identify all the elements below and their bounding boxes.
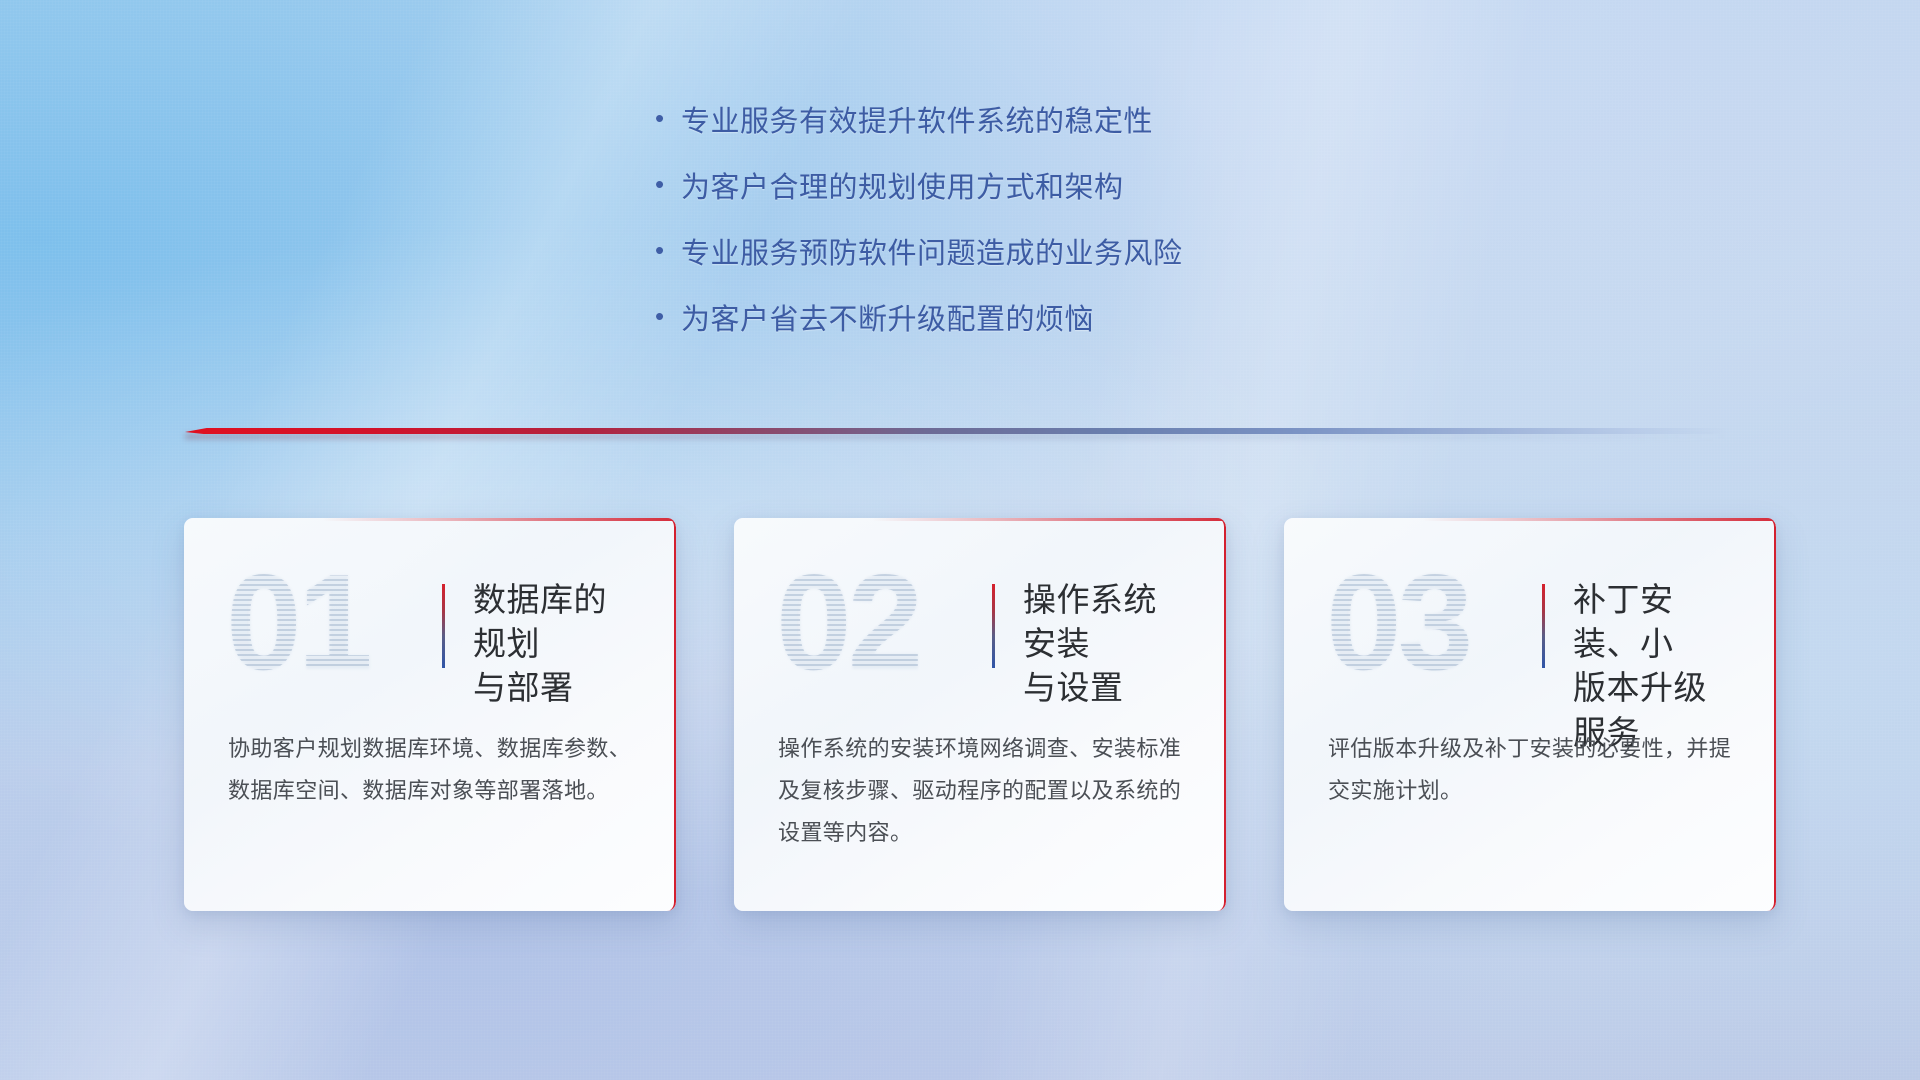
- card-number: 03: [1326, 554, 1469, 690]
- card-number-ghost: 03: [1326, 554, 1469, 690]
- card-accent-bar: [442, 584, 445, 668]
- list-item: • 专业服务有效提升软件系统的稳定性: [655, 108, 1183, 137]
- service-card[interactable]: 02 02 操作系统安装 与设置 操作系统的安装环境网络调查、安装标准及复核步骤…: [734, 518, 1226, 911]
- divider-bar: [185, 428, 1730, 434]
- service-card[interactable]: 01 01 数据库的规划 与部署 协助客户规划数据库环境、数据库参数、数据库空间…: [184, 518, 676, 911]
- bullet-text: 为客户省去不断升级配置的烦恼: [681, 306, 1094, 335]
- card-header: 数据库的规划 与部署: [442, 570, 632, 711]
- card-body-text: 操作系统的安装环境网络调查、安装标准及复核步骤、驱动程序的配置以及系统的设置等内…: [778, 728, 1186, 855]
- section-divider: [185, 424, 1730, 438]
- list-item: • 为客户省去不断升级配置的烦恼: [655, 306, 1183, 335]
- card-body-text: 评估版本升级及补丁安装的必要性，并提交实施计划。: [1328, 728, 1736, 812]
- bullet-text: 为客户合理的规划使用方式和架构: [681, 174, 1124, 203]
- card-body-text: 协助客户规划数据库环境、数据库参数、数据库空间、数据库对象等部署落地。: [228, 728, 636, 812]
- bullet-dot-icon: •: [655, 237, 681, 263]
- slide-canvas: • 专业服务有效提升软件系统的稳定性 • 为客户合理的规划使用方式和架构 • 专…: [0, 0, 1920, 1080]
- service-card-row: 01 01 数据库的规划 与部署 协助客户规划数据库环境、数据库参数、数据库空间…: [184, 518, 1776, 911]
- list-item: • 为客户合理的规划使用方式和架构: [655, 174, 1183, 203]
- card-title: 数据库的规划 与部署: [473, 578, 632, 711]
- service-card[interactable]: 03 03 补丁安装、小 版本升级服务 评估版本升级及补丁安装的必要性，并提交实…: [1284, 518, 1776, 911]
- divider-shadow: [185, 434, 1730, 439]
- card-number-ghost: 02: [776, 554, 919, 690]
- card-accent-bar: [992, 584, 995, 668]
- bullet-dot-icon: •: [655, 105, 681, 131]
- card-number: 01: [226, 554, 369, 690]
- benefits-bullet-list: • 专业服务有效提升软件系统的稳定性 • 为客户合理的规划使用方式和架构 • 专…: [655, 108, 1183, 372]
- bullet-text: 专业服务有效提升软件系统的稳定性: [681, 108, 1153, 137]
- bullet-dot-icon: •: [655, 303, 681, 329]
- card-number-ghost: 01: [226, 554, 369, 690]
- card-title: 操作系统安装 与设置: [1023, 578, 1182, 711]
- card-accent-bar: [1542, 584, 1545, 668]
- card-red-edge-top: [1422, 518, 1776, 521]
- card-red-edge-top: [872, 518, 1226, 521]
- card-header: 操作系统安装 与设置: [992, 570, 1182, 711]
- list-item: • 专业服务预防软件问题造成的业务风险: [655, 240, 1183, 269]
- card-red-edge-top: [322, 518, 676, 521]
- bullet-text: 专业服务预防软件问题造成的业务风险: [681, 240, 1183, 269]
- card-number: 02: [776, 554, 919, 690]
- bullet-dot-icon: •: [655, 171, 681, 197]
